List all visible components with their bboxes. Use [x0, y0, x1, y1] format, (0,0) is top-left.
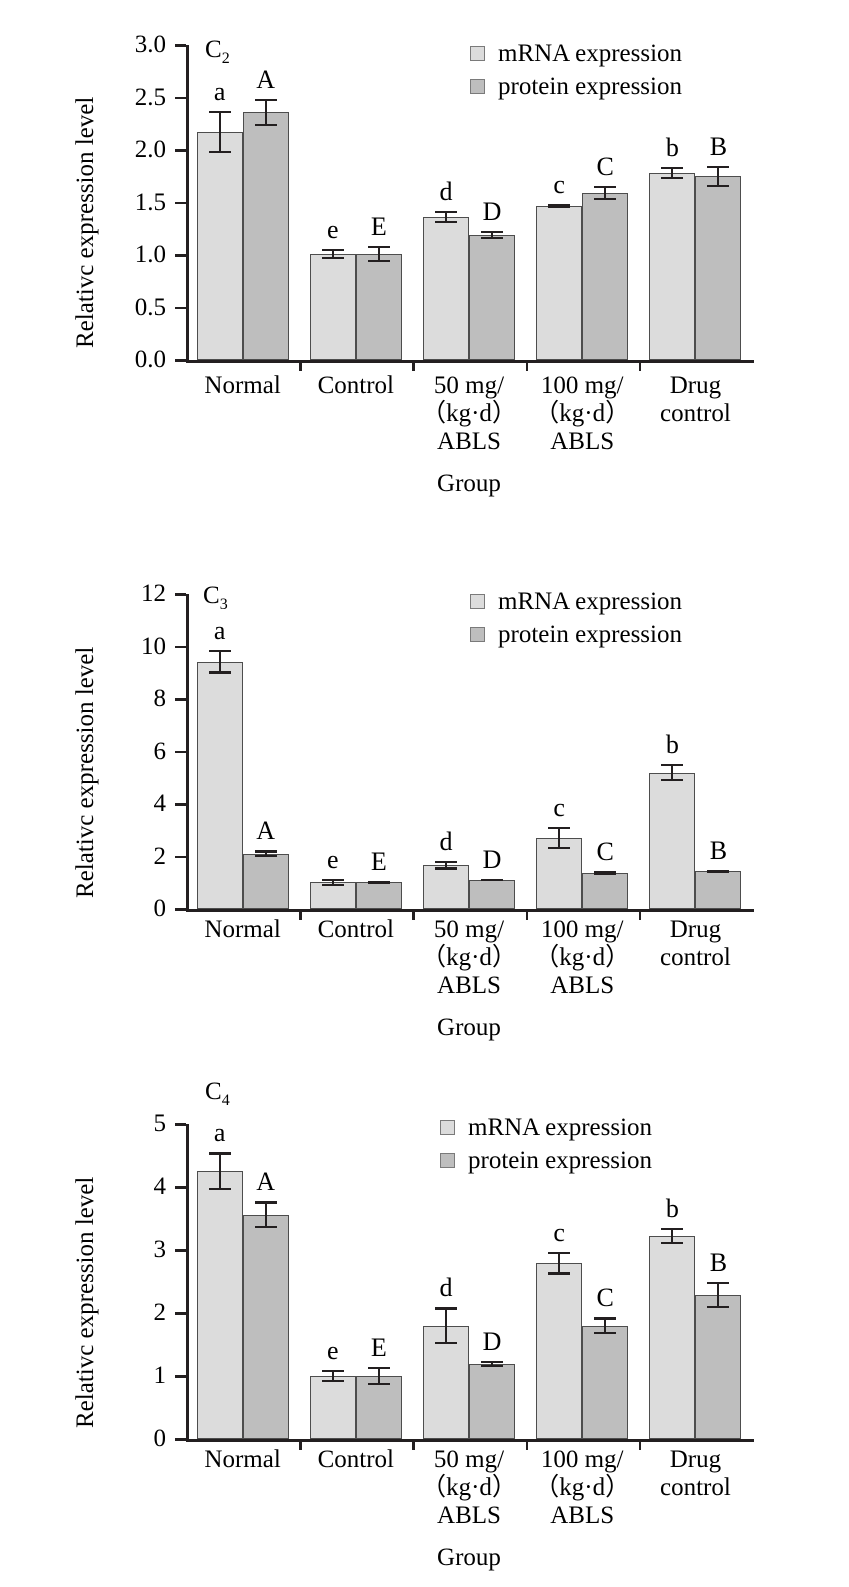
- bar-mrna-2: [423, 865, 469, 909]
- error-bar-cap-top: [322, 879, 344, 881]
- y-axis-tick: [175, 646, 186, 649]
- bar-protein-2: [469, 1364, 515, 1439]
- y-axis-tick-label: 6: [108, 739, 166, 764]
- bar-protein-3: [582, 873, 628, 909]
- bar-mrna-0: [197, 662, 243, 909]
- bar-protein-2: [469, 880, 515, 909]
- bar-mrna-1: [310, 882, 356, 909]
- significance-label: e: [313, 1338, 353, 1364]
- y-axis-tick: [175, 1312, 186, 1315]
- error-bar-cap-bottom: [435, 221, 457, 223]
- x-axis-category-label: Normal: [180, 916, 305, 944]
- bar-protein-3: [582, 193, 628, 360]
- error-bar-cap-bottom: [322, 884, 344, 886]
- x-axis-category-label: Normal: [180, 1446, 305, 1474]
- error-bar: [481, 879, 503, 882]
- bar-protein-1: [356, 1376, 402, 1439]
- error-bar: [368, 1367, 390, 1386]
- error-bar-cap-bottom: [255, 1226, 277, 1228]
- y-axis-tick: [175, 1186, 186, 1189]
- y-axis-tick-label: 0: [118, 1426, 166, 1451]
- error-bar-cap-top: [548, 827, 570, 829]
- bar-protein-0: [243, 112, 289, 360]
- error-bar: [548, 204, 570, 208]
- y-axis-tick: [175, 593, 186, 596]
- y-axis-tick-label: 12: [108, 581, 166, 606]
- y-axis-tick-label: 4: [108, 791, 166, 816]
- error-bar: [481, 1361, 503, 1367]
- error-bar-cap-top: [481, 1361, 503, 1363]
- y-axis-tick-label: 3: [118, 1237, 166, 1262]
- error-bar-cap-bottom: [594, 872, 616, 874]
- y-axis-tick: [175, 97, 186, 100]
- bar-mrna-1: [310, 1376, 356, 1439]
- x-axis-category-label: Drug control: [633, 916, 758, 972]
- chart-legend: mRNA expressionprotein expression: [470, 586, 682, 652]
- y-axis-tick-label: 2: [118, 1300, 166, 1325]
- y-axis-tick: [175, 698, 186, 701]
- legend-label: protein expression: [498, 74, 682, 99]
- panel-code-label: C4: [205, 1078, 230, 1110]
- y-axis-tick-label: 1.5: [96, 190, 166, 215]
- error-bar-cap-top: [209, 111, 231, 113]
- y-axis-line: [186, 45, 189, 363]
- significance-label: c: [539, 172, 579, 198]
- error-bar: [594, 186, 616, 201]
- y-axis-line: [186, 594, 189, 912]
- x-axis-tick: [526, 360, 529, 371]
- legend-label: mRNA expression: [468, 1115, 652, 1140]
- bar-mrna-1: [310, 254, 356, 360]
- error-bar: [209, 650, 231, 674]
- error-bar: [481, 231, 503, 239]
- error-bar: [368, 246, 390, 263]
- significance-label: a: [200, 618, 240, 644]
- error-bar: [548, 1252, 570, 1275]
- significance-label: C: [585, 839, 625, 865]
- significance-label: d: [426, 1275, 466, 1301]
- error-bar-cap-bottom: [209, 671, 231, 673]
- error-bar: [435, 1307, 457, 1344]
- error-bar-cap-bottom: [707, 185, 729, 187]
- bar-mrna-4: [649, 1236, 695, 1439]
- error-bar-cap-top: [435, 1307, 457, 1309]
- x-axis-category-label: 50 mg/（kg·d）ABLS: [406, 372, 531, 456]
- y-axis-tick: [175, 1123, 186, 1126]
- error-bar-cap-top: [435, 211, 457, 213]
- error-bar-cap-bottom: [707, 1306, 729, 1308]
- significance-label: B: [698, 1250, 738, 1276]
- error-bar-cap-bottom: [707, 871, 729, 873]
- bar-protein-3: [582, 1326, 628, 1439]
- y-axis-tick: [175, 149, 186, 152]
- bar-mrna-4: [649, 773, 695, 910]
- error-bar-cap-bottom: [481, 879, 503, 881]
- error-bar-cap-top: [661, 764, 683, 766]
- y-axis-tick-label: 10: [108, 634, 166, 659]
- legend-item: protein expression: [470, 71, 682, 101]
- x-axis-category-label: Normal: [180, 372, 305, 400]
- y-axis-tick: [175, 751, 186, 754]
- error-bar-cap-bottom: [368, 1383, 390, 1385]
- error-bar-cap-bottom: [548, 1272, 570, 1274]
- bar-mrna-0: [197, 132, 243, 360]
- legend-item: mRNA expression: [470, 586, 682, 616]
- bar-protein-4: [695, 871, 741, 909]
- x-axis-line: [186, 360, 754, 363]
- error-bar-cap-bottom: [322, 257, 344, 259]
- bar-mrna-3: [536, 1263, 582, 1439]
- error-bar: [435, 861, 457, 870]
- legend-item: mRNA expression: [470, 38, 682, 68]
- error-bar: [209, 111, 231, 153]
- significance-label: A: [246, 1169, 286, 1195]
- error-bar-stem: [717, 1282, 719, 1308]
- y-axis-tick-label: 0.5: [96, 295, 166, 320]
- error-bar-cap-bottom: [368, 260, 390, 262]
- error-bar: [661, 167, 683, 180]
- significance-label: B: [698, 838, 738, 864]
- error-bar-cap-top: [368, 246, 390, 248]
- x-axis-category-label: 100 mg/（kg·d）ABLS: [520, 1446, 645, 1530]
- error-bar-cap-top: [255, 1201, 277, 1203]
- error-bar-cap-top: [481, 231, 503, 233]
- significance-label: d: [426, 829, 466, 855]
- error-bar-cap-bottom: [209, 1188, 231, 1190]
- error-bar: [255, 1201, 277, 1227]
- error-bar-cap-bottom: [594, 198, 616, 200]
- error-bar-cap-top: [707, 166, 729, 168]
- legend-swatch-icon: [470, 627, 485, 642]
- error-bar: [435, 211, 457, 224]
- x-axis-title: Group: [412, 470, 525, 498]
- error-bar-cap-bottom: [209, 151, 231, 153]
- error-bar: [548, 827, 570, 850]
- significance-label: B: [698, 134, 738, 160]
- error-bar-cap-bottom: [255, 855, 277, 857]
- error-bar-cap-top: [255, 850, 277, 852]
- bar-protein-1: [356, 254, 402, 360]
- panel-code-label: C3: [203, 582, 228, 614]
- error-bar: [322, 1370, 344, 1383]
- error-bar-cap-top: [594, 1317, 616, 1319]
- error-bar-cap-bottom: [481, 1365, 503, 1367]
- error-bar-cap-bottom: [548, 847, 570, 849]
- error-bar-cap-bottom: [435, 1342, 457, 1344]
- bar-mrna-2: [423, 217, 469, 360]
- legend-swatch-icon: [470, 46, 485, 61]
- significance-label: E: [359, 849, 399, 875]
- significance-label: A: [246, 818, 286, 844]
- error-bar-cap-bottom: [661, 1242, 683, 1244]
- y-axis-tick-label: 1: [118, 1363, 166, 1388]
- significance-label: b: [652, 732, 692, 758]
- y-axis-tick-label: 4: [118, 1174, 166, 1199]
- x-axis-line: [186, 909, 754, 912]
- legend-item: protein expression: [440, 1145, 652, 1175]
- legend-swatch-icon: [440, 1120, 455, 1135]
- error-bar: [661, 764, 683, 781]
- y-axis-tick: [175, 44, 186, 47]
- chart-panel-c3: 024681012aANormaleEControldD50 mg/（kg·d）…: [0, 548, 849, 1058]
- error-bar-cap-bottom: [548, 206, 570, 208]
- error-bar: [707, 870, 729, 873]
- x-axis-category-label: Control: [293, 1446, 418, 1474]
- legend-swatch-icon: [470, 79, 485, 94]
- error-bar-cap-bottom: [255, 124, 277, 126]
- bar-protein-4: [695, 176, 741, 360]
- bar-mrna-0: [197, 1171, 243, 1439]
- bar-mrna-3: [536, 206, 582, 360]
- y-axis-tick: [175, 856, 186, 859]
- bar-protein-0: [243, 1215, 289, 1439]
- error-bar: [594, 1317, 616, 1333]
- legend-swatch-icon: [440, 1153, 455, 1168]
- error-bar-cap-top: [661, 167, 683, 169]
- error-bar-cap-bottom: [322, 1380, 344, 1382]
- error-bar-cap-bottom: [481, 237, 503, 239]
- error-bar-stem: [219, 1152, 221, 1190]
- significance-label: d: [426, 179, 466, 205]
- x-axis-category-label: Drug control: [633, 372, 758, 428]
- legend-label: mRNA expression: [498, 589, 682, 614]
- error-bar-stem: [558, 827, 560, 850]
- significance-label: D: [472, 199, 512, 225]
- significance-label: D: [472, 1329, 512, 1355]
- y-axis-tick: [175, 254, 186, 257]
- bar-protein-0: [243, 854, 289, 909]
- x-axis-category-label: Control: [293, 916, 418, 944]
- error-bar: [707, 1282, 729, 1308]
- error-bar: [209, 1152, 231, 1190]
- x-axis-tick: [639, 360, 642, 371]
- y-axis-tick-label: 0: [108, 896, 166, 921]
- legend-label: protein expression: [468, 1148, 652, 1173]
- error-bar: [322, 249, 344, 260]
- x-axis-tick: [299, 360, 302, 371]
- y-axis-title: Relativc expression level: [72, 97, 100, 348]
- error-bar-cap-top: [209, 650, 231, 652]
- legend-label: mRNA expression: [498, 41, 682, 66]
- error-bar-cap-top: [209, 1152, 231, 1154]
- y-axis-tick-label: 2.5: [96, 85, 166, 110]
- significance-label: a: [200, 79, 240, 105]
- chart-panel-c2: 0.00.51.01.52.02.53.0aANormaleEControldD…: [0, 0, 849, 530]
- error-bar-cap-top: [707, 1282, 729, 1284]
- y-axis-title: Relativc expression level: [72, 1177, 100, 1428]
- chart-panel-c4: 012345aANormaleEControldD50 mg/（kg·d）ABL…: [0, 1060, 849, 1587]
- y-axis-tick: [175, 1438, 186, 1441]
- x-axis-category-label: Control: [293, 372, 418, 400]
- x-axis-category-label: 100 mg/（kg·d）ABLS: [520, 916, 645, 1000]
- error-bar-stem: [219, 111, 221, 153]
- significance-label: e: [313, 847, 353, 873]
- y-axis-tick: [175, 1375, 186, 1378]
- error-bar-cap-bottom: [661, 177, 683, 179]
- y-axis-tick-label: 5: [118, 1111, 166, 1136]
- y-axis-tick-label: 1.0: [96, 242, 166, 267]
- bar-mrna-4: [649, 173, 695, 360]
- error-bar-cap-top: [661, 1228, 683, 1230]
- error-bar: [594, 871, 616, 875]
- legend-item: protein expression: [470, 619, 682, 649]
- y-axis-tick: [175, 803, 186, 806]
- y-axis-tick-label: 8: [108, 686, 166, 711]
- error-bar: [255, 99, 277, 126]
- significance-label: b: [652, 1196, 692, 1222]
- x-axis-category-label: Drug control: [633, 1446, 758, 1502]
- x-axis-tick: [412, 360, 415, 371]
- error-bar-cap-top: [322, 249, 344, 251]
- x-axis-line: [186, 1439, 754, 1442]
- error-bar-cap-top: [368, 1367, 390, 1369]
- error-bar-cap-bottom: [368, 882, 390, 884]
- error-bar-stem: [219, 650, 221, 674]
- error-bar-stem: [265, 1201, 267, 1227]
- legend-swatch-icon: [470, 594, 485, 609]
- error-bar-cap-top: [322, 1370, 344, 1372]
- chart-legend: mRNA expressionprotein expression: [440, 1112, 652, 1178]
- significance-label: E: [359, 214, 399, 240]
- y-axis-tick: [175, 1249, 186, 1252]
- legend-item: mRNA expression: [440, 1112, 652, 1142]
- x-axis-category-label: 50 mg/（kg·d）ABLS: [406, 916, 531, 1000]
- significance-label: C: [585, 1285, 625, 1311]
- error-bar-cap-bottom: [661, 779, 683, 781]
- x-axis-category-label: 100 mg/（kg·d）ABLS: [520, 372, 645, 456]
- significance-label: E: [359, 1335, 399, 1361]
- error-bar: [707, 166, 729, 187]
- significance-label: A: [246, 67, 286, 93]
- error-bar-cap-top: [255, 99, 277, 101]
- error-bar-stem: [445, 1307, 447, 1344]
- significance-label: e: [313, 217, 353, 243]
- error-bar-cap-top: [548, 1252, 570, 1254]
- panel-code-label: C2: [205, 36, 230, 68]
- significance-label: C: [585, 154, 625, 180]
- error-bar: [255, 850, 277, 856]
- error-bar-cap-bottom: [594, 1332, 616, 1334]
- significance-label: D: [472, 847, 512, 873]
- error-bar-cap-top: [435, 861, 457, 863]
- bar-protein-2: [469, 235, 515, 360]
- y-axis-tick: [175, 307, 186, 310]
- error-bar-cap-bottom: [435, 867, 457, 869]
- error-bar-stem: [265, 99, 267, 126]
- error-bar: [322, 879, 344, 886]
- significance-label: c: [539, 795, 579, 821]
- significance-label: a: [200, 1120, 240, 1146]
- x-axis-title: Group: [412, 1014, 525, 1042]
- error-bar-stem: [558, 1252, 560, 1275]
- legend-label: protein expression: [498, 622, 682, 647]
- y-axis-title: Relativc expression level: [72, 647, 100, 898]
- error-bar-cap-top: [594, 186, 616, 188]
- y-axis-tick-label: 2.0: [96, 137, 166, 162]
- error-bar: [368, 881, 390, 884]
- y-axis-tick: [175, 908, 186, 911]
- significance-label: c: [539, 1220, 579, 1246]
- bar-protein-4: [695, 1295, 741, 1439]
- y-axis-line: [186, 1124, 189, 1442]
- y-axis-tick-label: 0.0: [96, 347, 166, 372]
- x-axis-title: Group: [412, 1544, 525, 1572]
- error-bar: [661, 1228, 683, 1244]
- y-axis-tick: [175, 202, 186, 205]
- y-axis-tick-label: 2: [108, 844, 166, 869]
- x-axis-category-label: 50 mg/（kg·d）ABLS: [406, 1446, 531, 1530]
- chart-legend: mRNA expressionprotein expression: [470, 38, 682, 104]
- significance-label: b: [652, 135, 692, 161]
- bar-protein-1: [356, 882, 402, 909]
- y-axis-tick: [175, 359, 186, 362]
- y-axis-tick-label: 3.0: [96, 32, 166, 57]
